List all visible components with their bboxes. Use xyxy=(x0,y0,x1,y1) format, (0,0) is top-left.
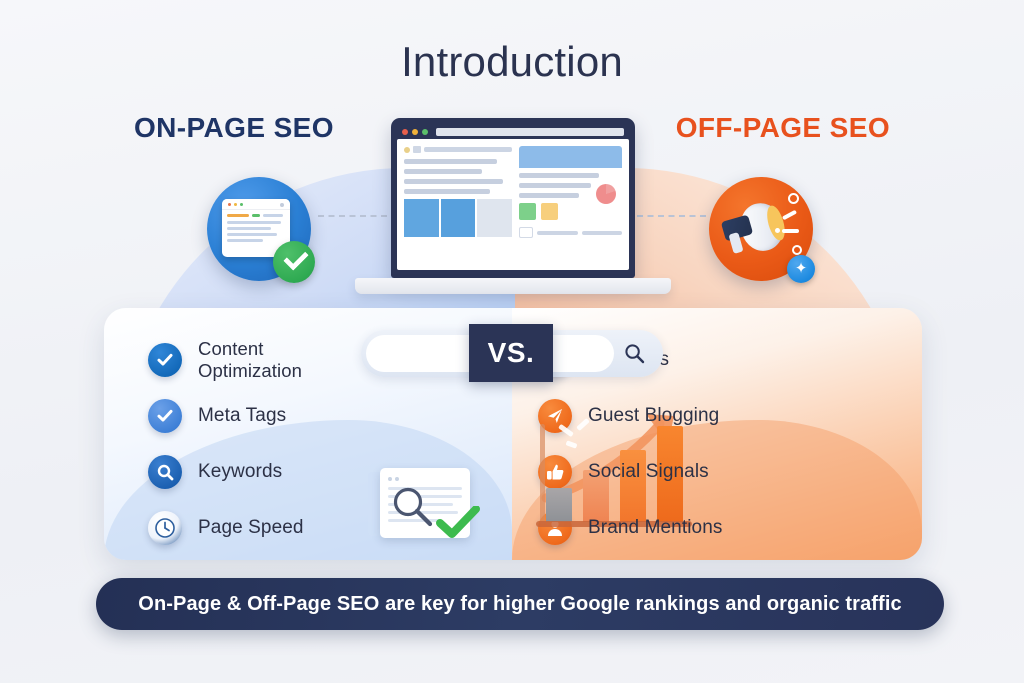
list-item-label: Content Optimization xyxy=(198,338,302,382)
list-item[interactable]: Meta Tags xyxy=(148,388,304,444)
list-item[interactable]: Keywords xyxy=(148,444,304,500)
laptop-screen xyxy=(391,118,635,278)
vs-search-bar[interactable]: VS. xyxy=(361,330,663,377)
spark-ring-icon xyxy=(792,245,802,255)
browser-content xyxy=(222,210,290,249)
list-item[interactable]: Content Optimization xyxy=(148,332,304,388)
summary-banner: On-Page & Off-Page SEO are key for highe… xyxy=(96,578,944,630)
search-icon[interactable] xyxy=(624,343,645,364)
dashboard-content xyxy=(397,139,629,270)
list-item-label: Brand Mentions xyxy=(588,517,722,539)
summary-banner-text: On-Page & Off-Page SEO are key for highe… xyxy=(138,593,901,616)
green-check-icon xyxy=(436,506,480,540)
check-circle-icon xyxy=(148,399,182,433)
laptop-base xyxy=(355,278,671,294)
chart-axis xyxy=(540,424,545,524)
heading-off-page-seo: OFF-PAGE SEO xyxy=(676,112,890,144)
on-page-feature-list: Content Optimization Meta Tags xyxy=(148,332,304,556)
heading-on-page-seo: ON-PAGE SEO xyxy=(134,112,334,144)
megaphone-icon xyxy=(723,203,785,251)
check-circle-icon xyxy=(148,343,182,377)
infographic-canvas: Introduction ON-PAGE SEO OFF-PAGE SEO xyxy=(0,0,1024,683)
document-magnifier-check-icon xyxy=(366,468,476,542)
magnifier-icon xyxy=(148,455,182,489)
chart-bar xyxy=(546,488,572,522)
spark-dot xyxy=(775,228,780,233)
list-item-label: Guest Blogging xyxy=(588,405,719,427)
spark-ring-icon xyxy=(788,193,799,204)
laptop-dashboard-icon xyxy=(355,118,671,298)
list-item-label: Keywords xyxy=(198,461,282,483)
vs-badge: VS. xyxy=(469,324,553,382)
page-title: Introduction xyxy=(0,38,1024,86)
badge-on-page xyxy=(207,177,311,281)
list-item-label: Page Speed xyxy=(198,517,304,539)
browser-titlebar xyxy=(222,199,290,210)
bird-icon: ✦ xyxy=(787,255,815,283)
list-item-label: Meta Tags xyxy=(198,405,286,427)
browser-toolbar xyxy=(397,124,629,139)
magnifier-icon xyxy=(390,484,436,530)
spark-line xyxy=(782,229,799,233)
badge-off-page: ✦ xyxy=(709,177,813,281)
list-item[interactable]: Page Speed xyxy=(148,500,304,556)
list-item-label: Social Signals xyxy=(588,461,709,483)
green-check-icon xyxy=(273,241,315,283)
clock-icon xyxy=(148,511,182,545)
